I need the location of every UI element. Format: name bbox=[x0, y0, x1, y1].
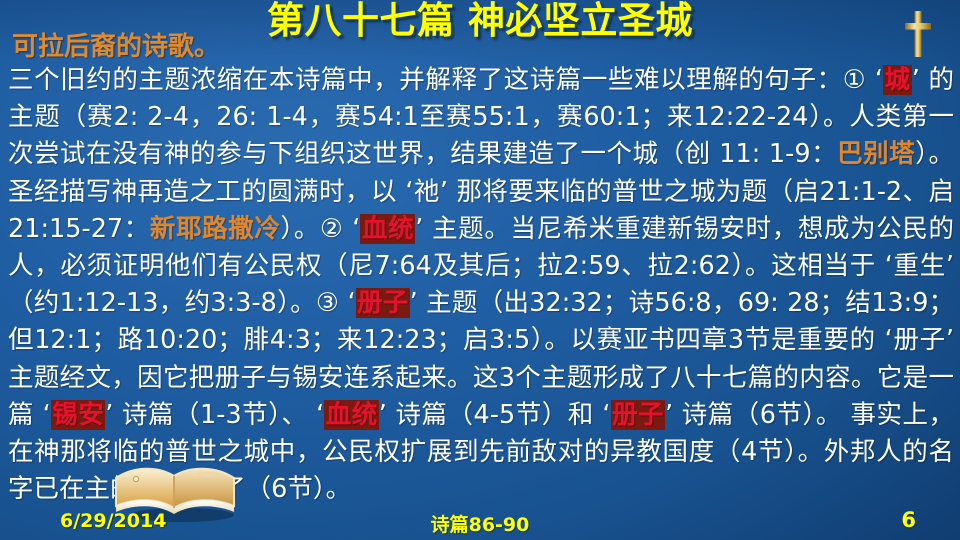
slide-body-text: 三个旧约的主题浓缩在本诗篇中，并解释了这诗篇一些难以理解的句子：① ‘城’ 的主… bbox=[8, 62, 954, 508]
highlight-orange-term: 新耶路撒冷 bbox=[150, 214, 281, 244]
cross-icon bbox=[900, 8, 936, 60]
highlight-red-term: 锡安 bbox=[51, 400, 106, 430]
highlight-red-term: 血统 bbox=[360, 214, 415, 244]
body-text-run: ’ 诗篇（1-3节）、 ‘ bbox=[105, 400, 324, 430]
body-text-run: ’ 诗篇（4-5节）和 ‘ bbox=[379, 400, 611, 430]
footer-scripture-reference: 诗篇86-90 bbox=[0, 510, 960, 537]
highlight-red-term: 血统 bbox=[324, 400, 379, 430]
body-text-run: 三个旧约的主题浓缩在本诗篇中，并解释了这诗篇一些难以理解的句子：① ‘ bbox=[8, 65, 883, 95]
slide-subtitle: 可拉后裔的诗歌。 bbox=[12, 32, 220, 62]
highlight-orange-term: 巴别塔 bbox=[837, 139, 915, 169]
presentation-slide: 第八十七篇 神必坚立圣城 可拉后裔的诗歌。 三个旧约的主题浓缩在本诗篇中，并解释… bbox=[0, 0, 960, 540]
highlight-red-term: 册子 bbox=[611, 400, 666, 430]
body-text-run: ）。② ‘ bbox=[281, 214, 361, 244]
footer-page-number: 6 bbox=[901, 508, 916, 532]
highlight-red-term: 城 bbox=[883, 65, 912, 95]
highlight-red-term: 册子 bbox=[356, 288, 410, 318]
